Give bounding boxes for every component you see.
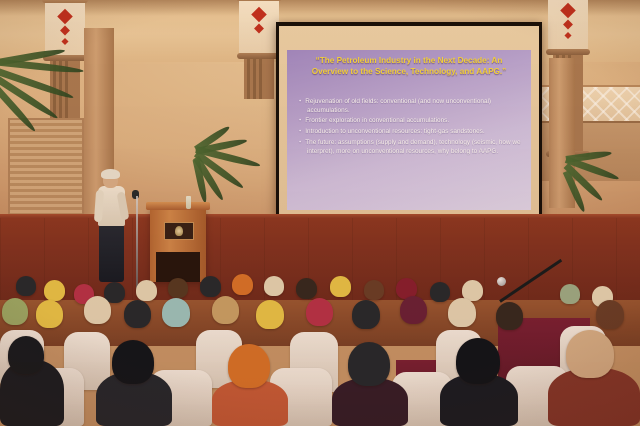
audience-head	[296, 278, 317, 299]
audience-head	[566, 330, 614, 378]
audience-head	[228, 344, 270, 388]
audience-head	[162, 298, 190, 327]
audience-head	[264, 276, 284, 296]
audience-head	[212, 296, 239, 324]
audience-head	[348, 342, 390, 386]
presentation-photo-scene: EMGE ENERGY MINING GEOSCIENCE EXPO “The …	[0, 0, 640, 426]
audience-head	[256, 300, 284, 329]
audience-head	[560, 284, 580, 304]
audience-head	[330, 276, 351, 297]
audience-head	[200, 276, 221, 297]
audience-head	[136, 280, 157, 301]
audience-head	[596, 300, 624, 329]
audience-head	[352, 300, 380, 329]
audience-head	[306, 298, 333, 326]
audience-head	[8, 336, 44, 374]
audience-head	[44, 280, 65, 301]
audience-head	[16, 276, 36, 296]
audience-head	[168, 278, 188, 298]
audience-head	[456, 338, 500, 384]
audience-head	[124, 300, 151, 328]
audience-head	[84, 296, 111, 324]
audience-head	[36, 300, 63, 328]
audience-head	[232, 274, 253, 295]
audience-head	[400, 296, 427, 324]
audience	[0, 0, 640, 426]
audience-head	[2, 298, 28, 325]
audience-head	[112, 340, 154, 384]
audience-head	[430, 282, 450, 302]
audience-head	[364, 280, 384, 300]
audience-head	[448, 298, 476, 327]
audience-head	[496, 302, 523, 330]
